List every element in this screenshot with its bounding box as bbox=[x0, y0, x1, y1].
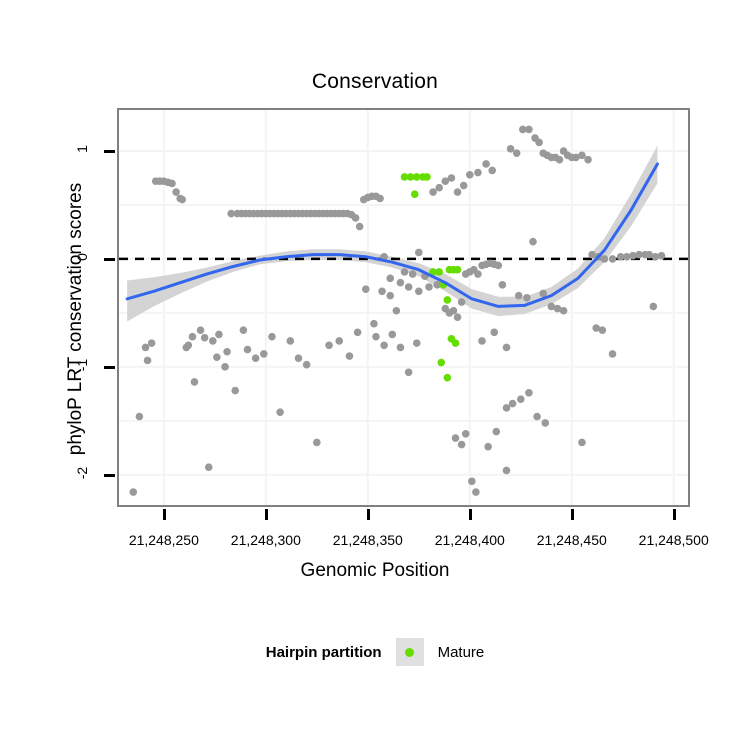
legend-key-mature[interactable] bbox=[396, 638, 424, 666]
x-tick-0 bbox=[163, 509, 166, 520]
legend-label-mature: Mature bbox=[438, 644, 485, 661]
x-tick-4 bbox=[571, 509, 574, 520]
x-tick-5 bbox=[673, 509, 676, 520]
x-tick-2 bbox=[367, 509, 370, 520]
y-tick-label-0: 1 bbox=[74, 129, 90, 169]
series-other bbox=[129, 126, 665, 496]
x-tick-1 bbox=[265, 509, 268, 520]
plot-svg bbox=[119, 110, 688, 505]
y-tick-0 bbox=[104, 150, 115, 153]
x-axis-label: Genomic Position bbox=[0, 560, 750, 582]
legend: Hairpin partition Mature bbox=[0, 638, 750, 666]
y-tick-label-2: -1 bbox=[74, 345, 90, 385]
gridlines bbox=[119, 110, 688, 505]
legend-marker-icon bbox=[405, 648, 414, 657]
chart-canvas: Conservation phyloP LRT conservation sco… bbox=[0, 0, 750, 750]
y-tick-1 bbox=[104, 258, 115, 261]
y-tick-2 bbox=[104, 366, 115, 369]
plot-panel bbox=[117, 108, 690, 507]
page-title: Conservation bbox=[0, 70, 750, 94]
x-tick-3 bbox=[469, 509, 472, 520]
x-tick-label-5: 21,248,500 bbox=[614, 532, 734, 548]
y-tick-label-1: 0 bbox=[74, 237, 90, 277]
y-tick-3 bbox=[104, 474, 115, 477]
y-tick-label-3: -2 bbox=[74, 453, 90, 493]
legend-title: Hairpin partition bbox=[266, 644, 382, 661]
